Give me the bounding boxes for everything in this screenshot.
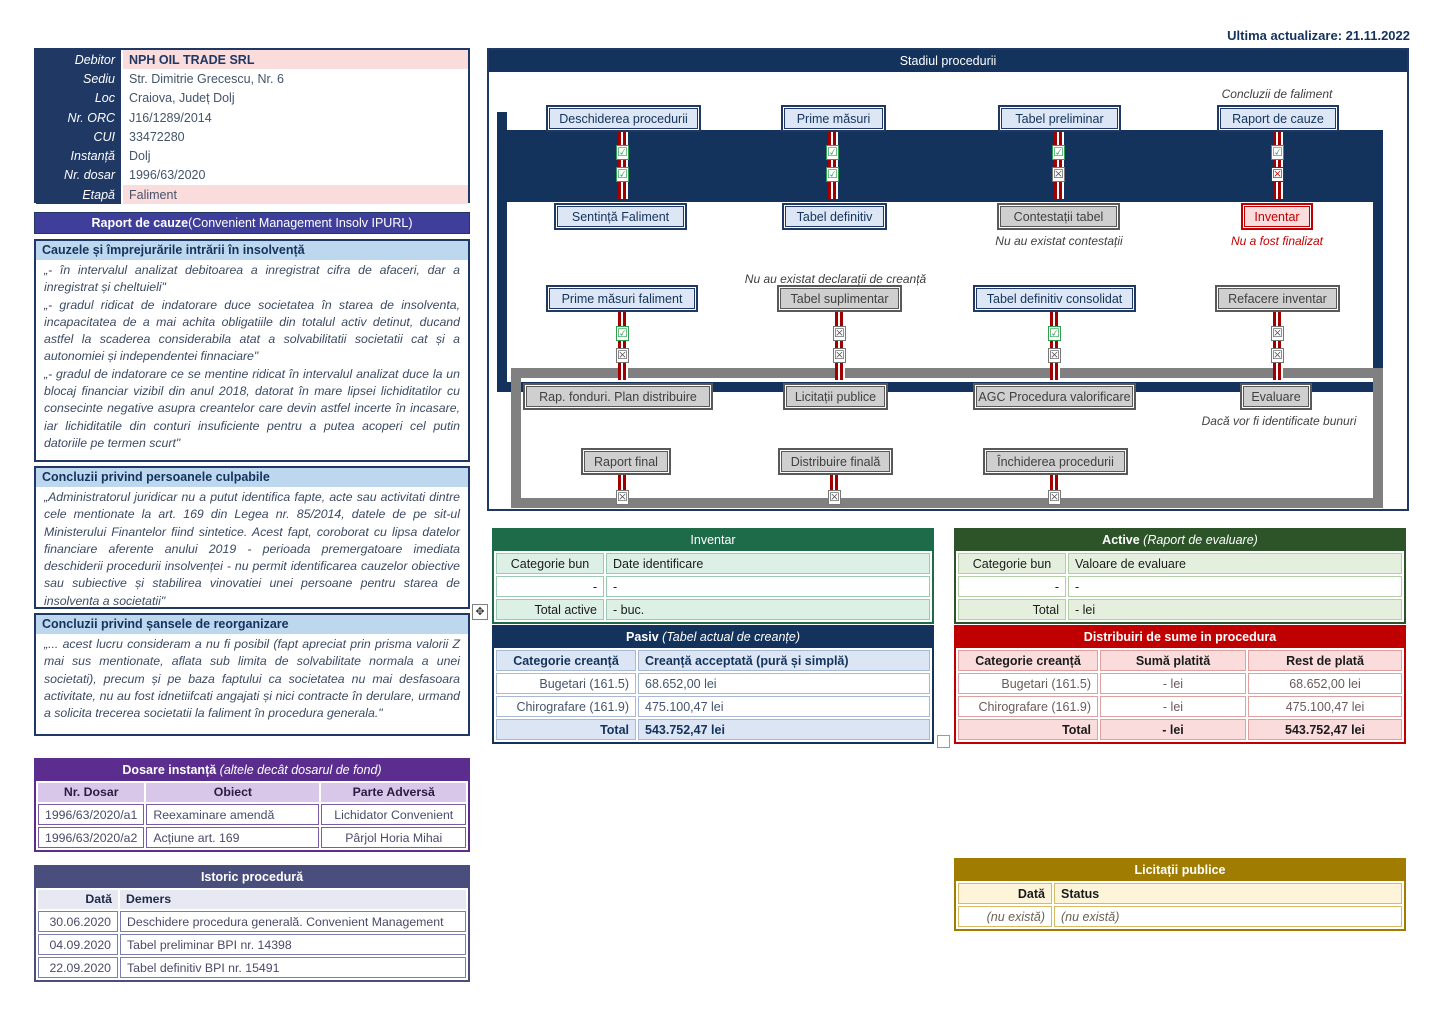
- section-sanse-reorganizare: Concluzii privind șansele de reorganizar…: [34, 613, 470, 736]
- table-row: - -: [496, 576, 930, 597]
- pasiv-title: Pasiv (Tabel actual de creanțe): [494, 627, 932, 648]
- active-cell-categorie: -: [958, 576, 1066, 597]
- table-header-row: Categorie creanță Creanță acceptată (pur…: [496, 650, 930, 671]
- debtor-table: Debitor NPH OIL TRADE SRL Sediu Str. Dim…: [36, 50, 468, 204]
- node-label: Deschiderea procedurii: [549, 108, 698, 129]
- table-row: Chirografare (161.9) 475.100,47 lei: [496, 696, 930, 717]
- licitatii-publice-panel: Licitații publice Dată Status (nu există…: [954, 858, 1406, 931]
- connector-rail: [618, 132, 628, 199]
- connector-rail: [1273, 132, 1283, 199]
- pasiv-cell-valoare: 68.652,00 lei: [638, 673, 930, 694]
- dosare-outer: Dosare instanță (altele decât dosarul de…: [34, 758, 470, 852]
- debtor-value-dosar: 1996/63/2020: [122, 166, 468, 185]
- table-header-row: Dată Demers: [38, 890, 466, 909]
- node-deschiderea-procedurii[interactable]: Deschiderea procedurii: [546, 105, 701, 132]
- table-header-row: Categorie creanță Sumă platită Rest de p…: [958, 650, 1402, 671]
- table-row: Bugetari (161.5) - lei 68.652,00 lei: [958, 673, 1402, 694]
- debtor-label-dosar: Nr. dosar: [36, 166, 122, 185]
- node-raport-de-cauze[interactable]: Raport de cauze: [1217, 105, 1339, 132]
- pasiv-cell-valoare: 475.100,47 lei: [638, 696, 930, 717]
- istoric-table: Dată Demers 30.06.2020 Deschidere proced…: [36, 888, 468, 980]
- debtor-value-sediu: Str. Dimitrie Grecescu, Nr. 6: [122, 69, 468, 88]
- distribuiri-col-suma: Sumă platită: [1100, 650, 1246, 671]
- stadiul-procedurii-diagram: Stadiul procedurii Deschiderea proceduri…: [487, 48, 1409, 511]
- section-body: „... acest lucru consideram a nu fi posi…: [36, 634, 468, 727]
- pasiv-col-categorie: Categorie creanță: [496, 650, 636, 671]
- debtor-value-instanta: Dolj: [122, 146, 468, 165]
- istoric-cell-data: 22.09.2020: [38, 957, 118, 978]
- note-concluzii-de-faliment: Concluzii de faliment: [1197, 87, 1357, 101]
- debtor-label-sediu: Sediu: [36, 69, 122, 88]
- pasiv-total-value: 543.752,47 lei: [638, 719, 930, 740]
- node-label: Tabel preliminar: [1001, 108, 1118, 129]
- status-cross-icon: ☒: [1271, 167, 1284, 182]
- node-rap-fonduri-plan-distribuire[interactable]: Rap. fonduri. Plan distribuire: [523, 383, 713, 410]
- table-row: Sediu Str. Dimitrie Grecescu, Nr. 6: [36, 69, 468, 88]
- node-licitatii-publice[interactable]: Licitații publice: [783, 383, 888, 410]
- table-row: - -: [958, 576, 1402, 597]
- section-heading: Concluzii privind șansele de reorganizar…: [36, 615, 468, 634]
- distribuiri-cell-categorie: Bugetari (161.5): [958, 673, 1098, 694]
- distribuiri-cell-suma: - lei: [1100, 673, 1246, 694]
- dosare-col-parte: Parte Adversă: [321, 783, 466, 802]
- debtor-label-orc: Nr. ORC: [36, 108, 122, 127]
- active-col-valoare: Valoare de evaluare: [1068, 553, 1402, 574]
- report-title-bar: Raport de cauze (Convenient Management I…: [34, 212, 470, 234]
- node-inventar[interactable]: Inventar: [1241, 203, 1313, 230]
- note-nu-au-existat-contestatii: Nu au existat contestații: [979, 234, 1139, 248]
- node-sentinta-faliment[interactable]: Sentință Faliment: [554, 203, 687, 230]
- node-label: Raport final: [584, 451, 668, 472]
- table-row: Instanță Dolj: [36, 146, 468, 165]
- diagram-title: Stadiul procedurii: [489, 50, 1407, 72]
- status-check-icon: ☑: [1048, 326, 1061, 341]
- node-label: Sentință Faliment: [557, 206, 684, 227]
- node-raport-final[interactable]: Raport final: [581, 448, 671, 475]
- dosare-cell-obiect: Reexaminare amendă: [146, 804, 319, 825]
- node-label: AGC Procedura valorificare: [976, 386, 1133, 407]
- istoric-col-demers: Demers: [120, 890, 466, 909]
- paragraph: „- gradul de indatorare ce se mentine ri…: [44, 366, 460, 452]
- licitatii-cell-data: (nu există): [958, 906, 1052, 927]
- table-row: Total - lei: [958, 599, 1402, 620]
- node-tabel-definitiv[interactable]: Tabel definitiv: [782, 203, 887, 230]
- pasiv-table: Categorie creanță Creanță acceptată (pur…: [494, 648, 932, 742]
- istoric-cell-data: 30.06.2020: [38, 911, 118, 932]
- licitatii-table: Dată Status (nu există) (nu există): [956, 881, 1404, 929]
- distribuiri-total-rest: 543.752,47 lei: [1248, 719, 1402, 740]
- table-row: Bugetari (161.5) 68.652,00 lei: [496, 673, 930, 694]
- licitatii-cell-status: (nu există): [1054, 906, 1402, 927]
- table-row: 1996/63/2020/a2 Acțiune art. 169 Pârjol …: [38, 827, 466, 848]
- node-label: Prime măsuri: [784, 108, 883, 129]
- active-col-categorie: Categorie bun: [958, 553, 1066, 574]
- distribuiri-total-paid: - lei: [1100, 719, 1246, 740]
- table-row: (nu există) (nu există): [958, 906, 1402, 927]
- connector-rail: [1054, 132, 1064, 199]
- section-cauze: Cauzele și împrejurările intrării în ins…: [34, 239, 470, 462]
- table-row: Total active - buc.: [496, 599, 930, 620]
- status-cross-icon: ☒: [1048, 490, 1061, 505]
- status-cross-icon: ☒: [1048, 348, 1061, 363]
- status-cross-icon: ☒: [616, 348, 629, 363]
- node-label: Distribuire finală: [781, 451, 890, 472]
- status-check-icon: ☑: [826, 167, 839, 182]
- dosare-cell-parte: Lichidator Convenient: [321, 804, 466, 825]
- table-row: 30.06.2020 Deschidere procedura generală…: [38, 911, 466, 932]
- table-row: Debitor NPH OIL TRADE SRL: [36, 50, 468, 69]
- active-total-label: Total: [958, 599, 1066, 620]
- node-label: Tabel definitiv consolidat: [976, 288, 1133, 309]
- licitatii-col-status: Status: [1054, 883, 1402, 904]
- node-refacere-inventar[interactable]: Refacere inventar: [1215, 285, 1340, 312]
- pasiv-total-label: Total: [496, 719, 636, 740]
- table-row: Nr. dosar 1996/63/2020: [36, 166, 468, 185]
- section-body: „- în intervalul analizat debitoarea a i…: [36, 260, 468, 457]
- inventar-table: Categorie bun Date identificare - - Tota…: [494, 551, 932, 622]
- paragraph: „- gradul ridicat de indatorare duce soc…: [44, 297, 460, 366]
- inventar-title: Inventar: [494, 530, 932, 551]
- distribuiri-cell-suma: - lei: [1100, 696, 1246, 717]
- note-daca-vor-fi-identificate-bunuri: Dacă vor fi identificate bunuri: [1189, 414, 1369, 428]
- dosare-cell-nr: 1996/63/2020/a2: [38, 827, 144, 848]
- table-row: 1996/63/2020/a1 Reexaminare amendă Lichi…: [38, 804, 466, 825]
- dosare-cell-obiect: Acțiune art. 169: [146, 827, 319, 848]
- debtor-label-loc: Loc: [36, 89, 122, 108]
- note-nu-a-fost-finalizat: Nu a fost finalizat: [1201, 234, 1353, 248]
- distribuiri-table: Categorie creanță Sumă platită Rest de p…: [956, 648, 1404, 742]
- node-label: Tabel definitiv: [785, 206, 884, 227]
- active-title-rest: (Raport de evaluare): [1140, 533, 1258, 547]
- debtor-info-card: Debitor NPH OIL TRADE SRL Sediu Str. Dim…: [34, 48, 470, 203]
- status-check-icon: ☑: [616, 167, 629, 182]
- connector-rail: [828, 132, 838, 199]
- distribuiri-cell-rest: 68.652,00 lei: [1248, 673, 1402, 694]
- table-row: Nr. ORC J16/1289/2014: [36, 108, 468, 127]
- node-label: Raport de cauze: [1220, 108, 1336, 129]
- dosare-title-bold: Dosare instanță: [122, 763, 216, 777]
- debtor-value-cui: 33472280: [122, 127, 468, 146]
- node-label: Închiderea procedurii: [986, 451, 1125, 472]
- distribuiri-total-label: Total: [958, 719, 1098, 740]
- table-row: Loc Craiova, Județ Dolj: [36, 89, 468, 108]
- active-total-value: - lei: [1068, 599, 1402, 620]
- pasiv-cell-categorie: Bugetari (161.5): [496, 673, 636, 694]
- node-label: Licitații publice: [786, 386, 885, 407]
- inventar-cell-date: -: [606, 576, 930, 597]
- node-label: Prime măsuri faliment: [549, 288, 695, 309]
- connector-rail: [1050, 312, 1060, 380]
- inventar-total-value: - buc.: [606, 599, 930, 620]
- status-cross-icon: ☒: [833, 348, 846, 363]
- istoric-cell-data: 04.09.2020: [38, 934, 118, 955]
- status-check-icon: ☑: [616, 326, 629, 341]
- node-distribuire-finala[interactable]: Distribuire finală: [778, 448, 893, 475]
- istoric-procedura-panel: Istoric procedură Dată Demers 30.06.2020…: [34, 865, 470, 982]
- move-cursor-icon[interactable]: ✥: [472, 604, 488, 620]
- active-title: Active (Raport de evaluare): [956, 530, 1404, 551]
- active-cell-valoare: -: [1068, 576, 1402, 597]
- table-header-row: Nr. Dosar Obiect Parte Adversă: [38, 783, 466, 802]
- dosare-col-obiect: Obiect: [146, 783, 319, 802]
- section-persoane-culpabile: Concluzii privind persoanele culpabile „…: [34, 466, 470, 609]
- table-row: Chirografare (161.9) - lei 475.100,47 le…: [958, 696, 1402, 717]
- istoric-col-data: Dată: [38, 890, 118, 909]
- distribuiri-col-categorie: Categorie creanță: [958, 650, 1098, 671]
- debtor-label-etapa: Etapă: [36, 185, 122, 204]
- debtor-value-etapa: Faliment: [122, 185, 468, 204]
- pasiv-col-creanta: Creanță acceptată (pură și simplă): [638, 650, 930, 671]
- istoric-title: Istoric procedură: [36, 867, 468, 888]
- istoric-cell-demers: Tabel preliminar BPI nr. 14398: [120, 934, 466, 955]
- node-label: Refacere inventar: [1218, 288, 1337, 309]
- inventar-col-categorie: Categorie bun: [496, 553, 604, 574]
- node-inchiderea-procedurii[interactable]: Închiderea procedurii: [983, 448, 1128, 475]
- status-check-icon: ☑: [616, 145, 629, 160]
- report-title-bold: Raport de cauze: [92, 216, 189, 230]
- table-row: 22.09.2020 Tabel definitiv BPI nr. 15491: [38, 957, 466, 978]
- istoric-cell-demers: Tabel definitiv BPI nr. 15491: [120, 957, 466, 978]
- active-title-bold: Active: [1102, 533, 1140, 547]
- section-heading: Concluzii privind persoanele culpabile: [36, 468, 468, 487]
- dosare-instanta-panel: Dosare instanță (altele decât dosarul de…: [34, 758, 470, 852]
- node-label: Rap. fonduri. Plan distribuire: [526, 386, 710, 407]
- distribuiri-col-rest: Rest de plată: [1248, 650, 1402, 671]
- last-update-label: Ultima actualizare: 21.11.2022: [1000, 28, 1410, 43]
- inventar-total-label: Total active: [496, 599, 604, 620]
- status-check-icon: ☑: [1052, 145, 1065, 160]
- pasiv-title-rest: (Tabel actual de creanțe): [659, 630, 800, 644]
- table-row: 04.09.2020 Tabel preliminar BPI nr. 1439…: [38, 934, 466, 955]
- distribuiri-cell-rest: 475.100,47 lei: [1248, 696, 1402, 717]
- status-check-icon: ☑: [826, 145, 839, 160]
- distribuiri-title: Distribuiri de sume in procedura: [956, 627, 1404, 648]
- connector-rail: [618, 312, 628, 380]
- node-label: Evaluare: [1243, 386, 1309, 407]
- node-prime-masuri-faliment[interactable]: Prime măsuri faliment: [546, 285, 698, 312]
- pasiv-cell-categorie: Chirografare (161.9): [496, 696, 636, 717]
- connector-rail: [1273, 312, 1283, 380]
- debtor-label-debitor: Debitor: [36, 50, 122, 69]
- node-tabel-suplimentar[interactable]: Tabel suplimentar: [777, 285, 902, 312]
- dosare-table: Nr. Dosar Obiect Parte Adversă 1996/63/2…: [36, 781, 468, 850]
- pasiv-title-bold: Pasiv: [626, 630, 659, 644]
- node-tabel-definitiv-consolidat[interactable]: Tabel definitiv consolidat: [973, 285, 1136, 312]
- table-header-row: Categorie bun Valoare de evaluare: [958, 553, 1402, 574]
- note-nu-au-existat-declaratii: Nu au existat declarații de creanță: [742, 272, 929, 286]
- debtor-value-orc: J16/1289/2014: [122, 108, 468, 127]
- debtor-value-debitor: NPH OIL TRADE SRL: [122, 50, 468, 69]
- node-label: Inventar: [1244, 206, 1310, 227]
- istoric-cell-demers: Deschidere procedura generală. Convenien…: [120, 911, 466, 932]
- paragraph: „Administratorul juridicar nu a putut id…: [44, 489, 460, 610]
- node-label: Contestații tabel: [1000, 206, 1117, 227]
- paragraph: „- în intervalul analizat debitoarea a i…: [44, 262, 460, 297]
- licitatii-title: Licitații publice: [956, 860, 1404, 881]
- node-prime-masuri[interactable]: Prime măsuri: [781, 105, 886, 132]
- dosare-cell-parte: Pârjol Horia Mihai: [321, 827, 466, 848]
- table-row: Total - lei 543.752,47 lei: [958, 719, 1402, 740]
- distribuiri-cell-categorie: Chirografare (161.9): [958, 696, 1098, 717]
- active-panel: Active (Raport de evaluare) Categorie bu…: [954, 528, 1406, 624]
- inventar-col-date: Date identificare: [606, 553, 930, 574]
- section-heading: Cauzele și împrejurările intrării în ins…: [36, 241, 468, 260]
- dosare-title: Dosare instanță (altele decât dosarul de…: [36, 760, 468, 781]
- table-row: CUI 33472280: [36, 127, 468, 146]
- table-header-row: Categorie bun Date identificare: [496, 553, 930, 574]
- dosare-cell-nr: 1996/63/2020/a1: [38, 804, 144, 825]
- node-agc-procedura-valorificare[interactable]: AGC Procedura valorificare: [973, 383, 1136, 410]
- selection-handle[interactable]: [937, 735, 950, 748]
- report-title-rest: (Convenient Management Insolv IPURL): [188, 216, 412, 230]
- debtor-label-cui: CUI: [36, 127, 122, 146]
- status-cross-icon: ☒: [1271, 348, 1284, 363]
- status-cross-icon: ☒: [616, 490, 629, 505]
- status-check-icon: ☑: [1271, 145, 1284, 160]
- status-cross-icon: ☒: [828, 490, 841, 505]
- section-body: „Administratorul juridicar nu a putut id…: [36, 487, 468, 615]
- table-row: Total 543.752,47 lei: [496, 719, 930, 740]
- debtor-value-loc: Craiova, Județ Dolj: [122, 89, 468, 108]
- licitatii-col-data: Dată: [958, 883, 1052, 904]
- node-tabel-preliminar[interactable]: Tabel preliminar: [998, 105, 1121, 132]
- dosare-col-nr: Nr. Dosar: [38, 783, 144, 802]
- node-label: Tabel suplimentar: [780, 288, 899, 309]
- dosare-title-rest: (altele decât dosarul de fond): [216, 763, 381, 777]
- node-evaluare[interactable]: Evaluare: [1240, 383, 1312, 410]
- status-cross-icon: ☒: [1052, 167, 1065, 182]
- distribuiri-panel: Distribuiri de sume in procedura Categor…: [954, 625, 1406, 744]
- paragraph: „... acest lucru consideram a nu fi posi…: [44, 636, 460, 722]
- pasiv-panel: Pasiv (Tabel actual de creanțe) Categori…: [492, 625, 934, 744]
- connector-rail: [835, 312, 845, 380]
- table-header-row: Dată Status: [958, 883, 1402, 904]
- table-row: Etapă Faliment: [36, 185, 468, 204]
- node-contestatii-tabel[interactable]: Contestații tabel: [997, 203, 1120, 230]
- inventar-panel: Inventar Categorie bun Date identificare…: [492, 528, 934, 624]
- active-table: Categorie bun Valoare de evaluare - - To…: [956, 551, 1404, 622]
- status-cross-icon: ☒: [1271, 326, 1284, 341]
- debtor-label-instanta: Instanță: [36, 146, 122, 165]
- istoric-outer: Istoric procedură Dată Demers 30.06.2020…: [34, 865, 470, 982]
- status-cross-icon: ☒: [833, 326, 846, 341]
- inventar-cell-categorie: -: [496, 576, 604, 597]
